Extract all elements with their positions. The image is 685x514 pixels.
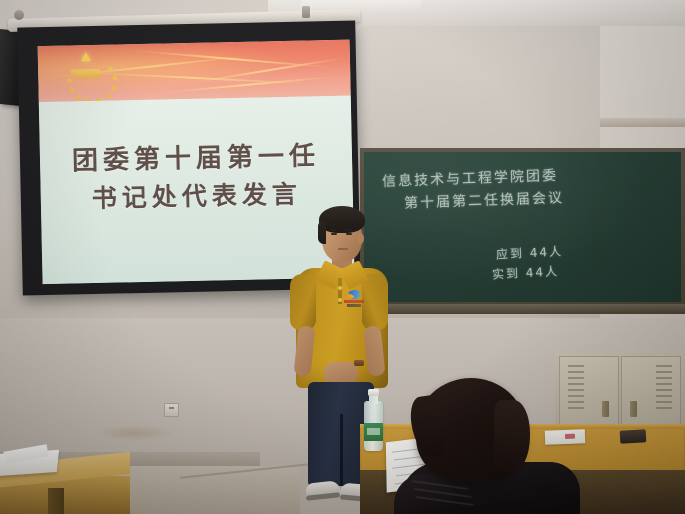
eyebrow-left [330,229,338,231]
wall-outlet-icon [164,403,179,417]
banner-wave [49,55,248,79]
school-logo-patch-icon [344,290,364,308]
bottle-cap [368,389,379,396]
youth-league-emblem-icon [64,51,111,96]
trouser-seam [340,414,343,486]
chalk-tray [360,304,685,314]
chalk-line-3: 应到 44人 [496,242,564,262]
emblem-band [75,69,100,79]
classroom-photo: 团委第十届第一任 书记处代表发言 信息技术与工程学院团委 第十届第二任换届会议 … [0,0,685,514]
sleeve-right [362,274,388,330]
screen-roller-end-cap [14,10,24,20]
banner-wave [189,57,347,85]
cabinet-handle-icon[interactable] [602,401,609,417]
left-desk-leg [48,488,64,514]
wreath-icon [67,59,118,102]
wall-stain [95,425,175,441]
seated-attendee [398,378,588,514]
star-icon [81,52,91,61]
slide-title-line-1: 团委第十届第一任 [40,138,353,182]
cabinet-door-right[interactable] [621,356,681,428]
eyebrow-right [345,229,353,231]
water-bottle [364,389,383,451]
hair-side [318,222,326,244]
blackboard-surface: 信息技术与工程学院团委 第十届第二任换届会议 应到 44人 实到 44人 [364,152,681,302]
wristwatch [354,360,364,366]
banner-wave [159,76,338,94]
eye-right [346,233,352,235]
ear [357,233,364,244]
sleeve-left [290,274,316,330]
slide-banner [38,40,351,103]
shirt-button [338,286,342,290]
logo-text-line [347,304,361,307]
cabinet-handle-icon[interactable] [630,401,637,417]
eye-left [331,233,337,235]
chalk-line-4: 实到 44人 [492,262,560,282]
blackboard-frame: 信息技术与工程学院团委 第十届第二任换届会议 应到 44人 实到 44人 [360,148,685,308]
logo-text-line [344,300,364,303]
wall-trim [600,118,685,127]
banner-wave [78,71,308,84]
mobile-phone [620,429,647,443]
blackboard: 信息技术与工程学院团委 第十届第二任换届会议 应到 44人 实到 44人 [360,148,685,316]
chalk-line-1: 信息技术与工程学院团委 [382,165,559,191]
banner-wave [128,49,337,69]
mouth [338,248,348,250]
clasped-hands [324,362,358,384]
chalk-line-2: 第十届第二任换届会议 [404,187,565,213]
screen-mount-bracket [302,6,310,18]
shirt-button [338,298,342,302]
attendee-hair-side [494,400,530,472]
bottle-label [364,423,383,441]
